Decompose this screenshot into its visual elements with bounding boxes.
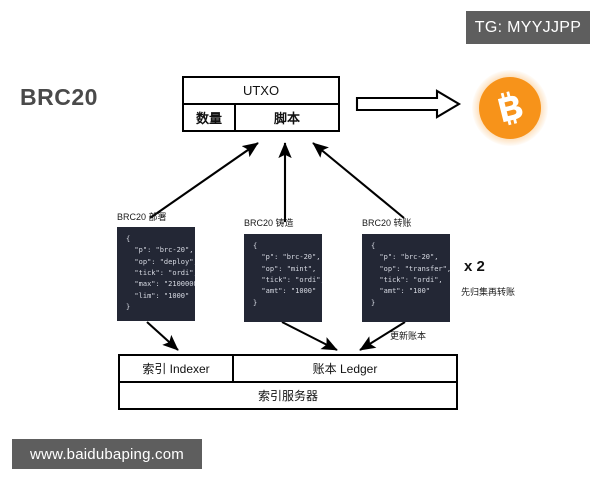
index-server-box: 索引 Indexer 账本 Ledger 索引服务器	[118, 354, 458, 410]
ledger-cell: 账本 Ledger	[234, 356, 456, 381]
utxo-fields-row: 数量 脚本	[184, 105, 338, 130]
code-block-deploy: { "p": "brc-20", "op": "deploy", "tick":…	[117, 227, 195, 321]
utxo-header: UTXO	[184, 78, 338, 105]
site-watermark-label: www.baidubaping.com	[30, 446, 184, 463]
bitcoin-b-glyph	[489, 87, 531, 129]
arrow-transfer-to-utxo	[313, 143, 404, 218]
update-ledger-annotation: 更新账本	[390, 329, 426, 342]
multiplier-note: 先归集再转账	[461, 285, 515, 298]
arrow-deploy-to-utxo	[150, 143, 258, 218]
index-server-footer: 索引服务器	[120, 383, 456, 408]
arrow-utxo-to-bitcoin	[357, 91, 459, 117]
telegram-badge: TG: MYYJJPP	[466, 11, 590, 44]
page-title: BRC20	[20, 84, 98, 111]
arrow-mint-to-ledger	[282, 322, 337, 350]
utxo-script-cell: 脚本	[236, 105, 338, 130]
utxo-box: UTXO 数量 脚本	[182, 76, 340, 132]
bitcoin-circle-icon	[479, 77, 541, 139]
code-label-transfer: BRC20 转账	[362, 216, 412, 229]
code-block-transfer: { "p": "brc-20", "op": "transfer", "tick…	[362, 234, 450, 322]
arrow-deploy-to-indexer	[147, 322, 178, 350]
code-label-mint: BRC20 铸造	[244, 216, 294, 229]
code-block-mint: { "p": "brc-20", "op": "mint", "tick": "…	[244, 234, 322, 322]
multiplier-annotation: x 2	[464, 258, 485, 275]
diagram-canvas: TG: MYYJJPP www.baidubaping.com BRC20 UT…	[0, 0, 600, 480]
bitcoin-logo	[472, 70, 548, 146]
telegram-badge-label: TG: MYYJJPP	[475, 19, 581, 37]
utxo-quantity-cell: 数量	[184, 105, 236, 130]
indexer-cell: 索引 Indexer	[120, 356, 234, 381]
site-watermark: www.baidubaping.com	[12, 439, 202, 469]
code-label-deploy: BRC20 部署	[117, 210, 167, 223]
index-server-top-row: 索引 Indexer 账本 Ledger	[120, 356, 456, 383]
